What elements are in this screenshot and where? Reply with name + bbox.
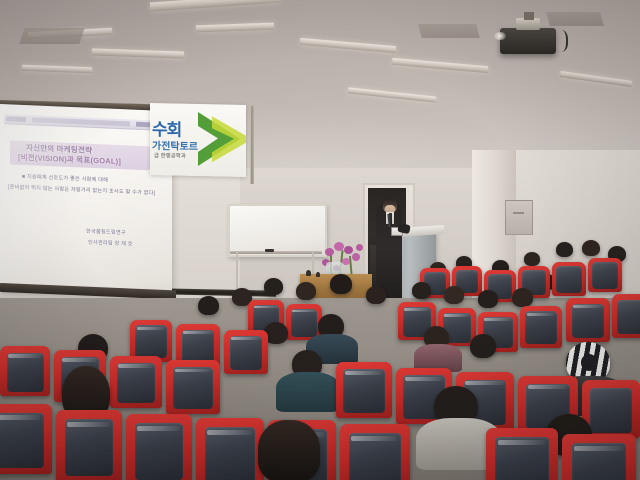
seat[interactable] [0,404,52,474]
ceiling-light-fixture [300,38,396,53]
slide-signature-line1: 한국품질드림연구 [86,228,126,237]
banner-text-small: 급 한행공학과 [154,151,186,160]
wall-access-panel [505,200,533,235]
audience-head [444,286,464,304]
seat[interactable] [126,414,192,480]
slide-body-line2: [준비없이 뛰지 않는 사람은 자랑거리 없는지 조사도 할 수가 없다] [8,183,155,196]
auditorium-photo: 자신만의 마케팅전략 [비전(VISION)과 목표(GOAL)] ■ 지원매체… [0,0,640,480]
seat[interactable] [486,428,558,480]
seat[interactable] [110,356,162,408]
ceiling-vent [418,24,479,38]
seat[interactable] [552,262,586,296]
seat[interactable] [520,306,562,348]
seat[interactable] [588,258,622,292]
audience-head [330,274,352,294]
ceiling-light-fixture [196,23,274,33]
seat[interactable] [566,298,610,342]
audience-head [556,242,573,257]
projector-lens-glow [494,32,506,40]
seat[interactable] [0,346,50,396]
audience-head [258,420,320,480]
seated-audience [0,238,640,480]
audience-head [366,286,386,304]
slide-toolbar [4,114,164,131]
ceiling-light-fixture [92,48,184,58]
seat[interactable] [612,294,640,338]
audience-shoulders [276,372,340,412]
seat[interactable] [56,410,122,480]
seat[interactable] [340,424,410,480]
ceiling-light-fixture [28,28,112,39]
ceiling-light-fixture [348,87,436,102]
audience-head [412,282,431,299]
audience-head [478,290,498,308]
ceiling-vent [19,28,84,44]
ceiling-light-fixture [560,71,632,87]
audience-head [582,240,600,256]
slide-body-line1: ■ 지원매체 선호도가 좋은 사람에 대해 [22,173,108,184]
ceiling-vent [546,12,604,26]
seat[interactable] [166,360,220,414]
seat[interactable] [336,362,392,418]
audience-head [296,282,316,300]
seat[interactable] [224,330,268,374]
banner-pole [250,106,254,184]
ceiling-light-fixture [22,65,92,73]
audience-head [470,334,496,358]
audience-head [524,252,540,266]
ceiling-light-fixture [150,0,280,12]
projector-bracket [524,12,534,20]
projector-icon [500,28,556,54]
seat[interactable] [196,418,264,480]
wall-banner: 수회 가전탁토르 급 한행공학과 [150,103,246,177]
ceiling-light-fixture [392,58,488,73]
audience-head [198,296,219,315]
seat[interactable] [562,434,636,480]
projector-mount [516,18,540,30]
chevron-graphic [194,110,246,171]
audience-head [264,278,283,295]
projector-cable [552,30,568,52]
audience-head [512,288,533,307]
